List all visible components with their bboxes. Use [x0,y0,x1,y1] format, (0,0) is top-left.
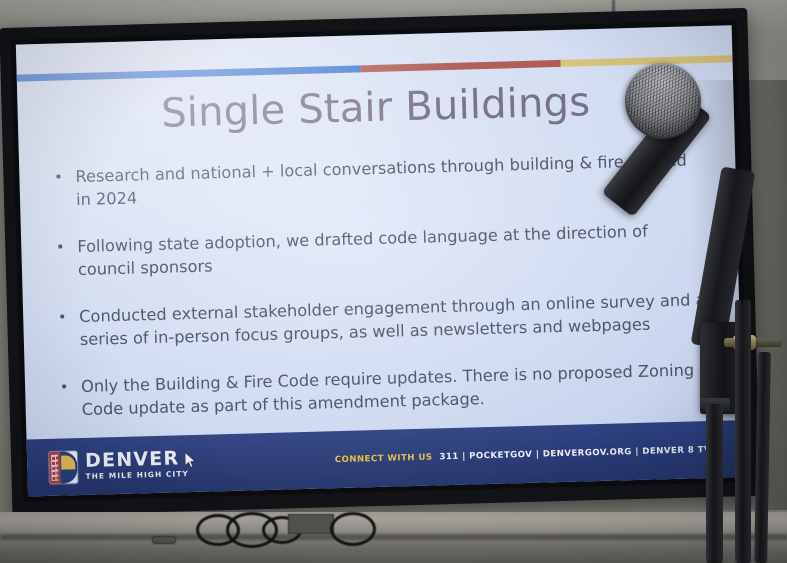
bullet-item-4: Only the Building & Fire Code require up… [59,358,712,422]
connect-with-us-block: CONNECT WITH US 311 | POCKETGOV | DENVER… [335,444,712,464]
bullet-dot-icon [58,244,62,248]
bullet-text: Research and national + local conversati… [75,151,687,210]
denver-d-seal-icon [49,451,78,484]
cable-clip [152,536,176,544]
cable-loop [330,512,376,546]
denver-name: DENVER [85,449,189,471]
denver-tagline: THE MILE HIGH CITY [85,470,189,480]
presentation-room-photo: Single Stair Buildings Research and nati… [0,0,787,563]
credenza-edge [0,534,787,540]
bullet-item-2: Following state adoption, we drafted cod… [55,218,708,282]
presentation-slide[interactable]: Single Stair Buildings Research and nati… [16,25,744,496]
mouse-cursor-icon [185,452,197,469]
bullet-text: Following state adoption, we drafted cod… [77,222,648,279]
bullet-dot-icon [60,314,64,318]
connect-with-us-label: CONNECT WITH US [335,452,433,465]
accent-segment-red [360,60,561,72]
slide-title: Single Stair Buildings [17,77,734,138]
bullet-item-3: Conducted external stakeholder engagemen… [57,288,710,352]
cable-box [288,514,334,534]
logo-building-bars [49,451,61,483]
accent-segment-gold [561,55,733,67]
denver-wordmark: DENVER THE MILE HIGH CITY [85,449,189,480]
bullet-text: Conducted external stakeholder engagemen… [79,290,706,349]
slide-bullet-list: Research and national + local conversati… [53,148,712,446]
connect-with-us-links: 311 | POCKETGOV | DENVERGOV.ORG | DENVER… [439,444,711,461]
display-screen[interactable]: Single Stair Buildings Research and nati… [0,8,760,516]
bullet-dot-icon [62,384,66,388]
bullet-text: Only the Building & Fire Code require up… [81,360,695,419]
bullet-dot-icon [56,175,60,179]
bullet-item-1: Research and national + local conversati… [53,148,706,212]
denver-logo: DENVER THE MILE HIGH CITY [49,448,189,484]
accent-segment-blue [17,65,361,81]
slide-accent-bar [17,55,733,81]
